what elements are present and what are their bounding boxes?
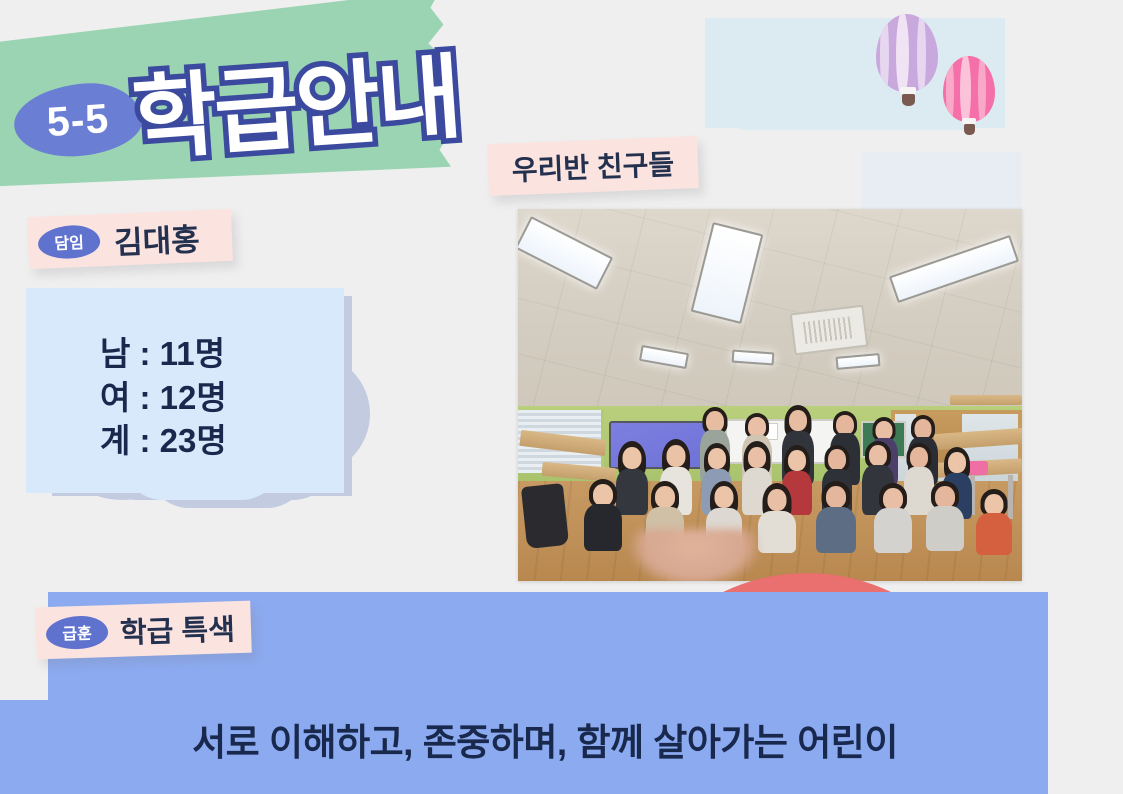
photo-student xyxy=(758,483,796,553)
student-count-list: 남 : 11명 여 : 12명 계 : 23명 xyxy=(100,332,300,463)
class-photo-label-banner: 우리반 친구들 xyxy=(487,136,699,196)
hot-air-balloon-purple-icon xyxy=(876,14,938,118)
count-male: 남 : 11명 xyxy=(100,332,300,376)
photo-ceiling xyxy=(518,209,1022,410)
photo-shelf xyxy=(950,395,1022,405)
photo-backpack xyxy=(521,483,569,549)
hot-air-balloon-pink-icon xyxy=(943,56,995,146)
teacher-banner: 담임 김대홍 xyxy=(27,209,233,269)
photo-student xyxy=(926,481,964,551)
photo-student xyxy=(584,479,622,551)
count-female: 여 : 12명 xyxy=(100,376,300,420)
photo-student xyxy=(874,483,912,553)
class-intro-poster: 5-5 학급안내 담임 김대홍 남 : 11명 여 : 12명 계 : 23명 … xyxy=(0,0,1123,794)
motto-label-banner: 급훈 학급 특색 xyxy=(35,601,252,660)
photo-air-conditioner xyxy=(790,305,869,356)
count-total: 계 : 23명 xyxy=(100,419,300,463)
page-title: 학급안내 xyxy=(128,23,463,178)
teacher-name: 김대홍 xyxy=(113,214,200,263)
motto-sentence: 서로 이해하고, 존중하며, 함께 살아가는 어린이 xyxy=(0,712,1090,766)
photo-student xyxy=(816,481,856,553)
photo-student xyxy=(976,489,1012,555)
class-photo-label: 우리반 친구들 xyxy=(511,143,675,189)
motto-section-label: 학급 특색 xyxy=(119,606,235,652)
class-group-photo xyxy=(518,209,1022,581)
teacher-badge: 담임 xyxy=(37,224,100,260)
motto-badge: 급훈 xyxy=(46,615,109,650)
